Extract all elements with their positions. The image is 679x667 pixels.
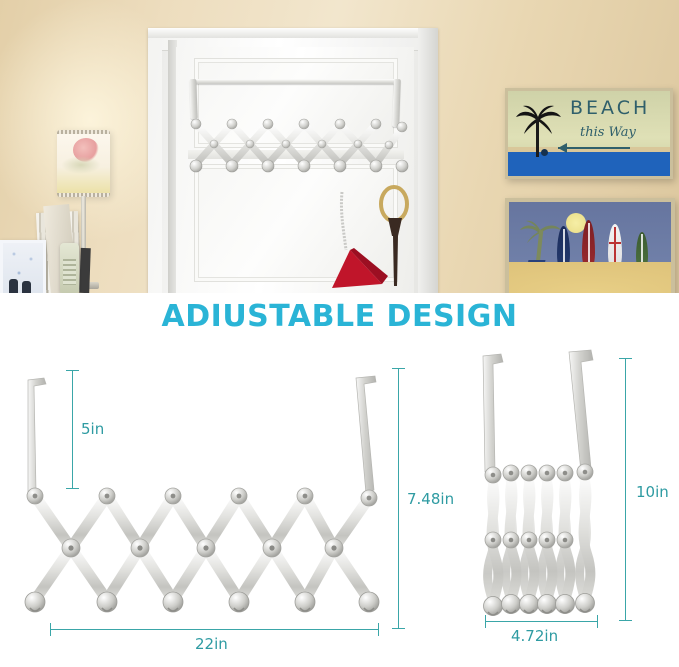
dimension-label-5in: 5in — [78, 420, 107, 438]
wall-art-surfboards — [505, 198, 675, 293]
dimension-cap-bottom-5in — [66, 488, 79, 489]
dimension-cap-top-748in — [392, 368, 405, 369]
rivet-row-middle — [62, 539, 343, 557]
lifestyle-photo: BEACH this Way — [0, 0, 679, 293]
dimension-line-748in — [398, 368, 399, 628]
left-arrow-icon — [558, 147, 630, 149]
dimension-cap-bottom-10in — [619, 620, 632, 621]
lamp-shade — [57, 130, 110, 197]
dimension-cap-right-22in — [378, 623, 379, 636]
dimension-line-472in — [485, 621, 597, 622]
rivet-row-top — [27, 488, 377, 506]
art-sea-band — [508, 152, 670, 176]
dimension-cap-bottom-748in — [392, 628, 405, 629]
rivet-centers-top — [33, 494, 372, 501]
hanger-top-bar — [192, 79, 400, 84]
rivet-centers-middle — [491, 538, 568, 543]
dimension-label-748in: 7.48in — [404, 490, 457, 508]
shade-trim-top — [57, 130, 110, 134]
dimension-cap-top-10in — [619, 358, 632, 359]
hanger-strap-right — [569, 350, 593, 472]
rivet-row-top — [485, 464, 593, 483]
dimension-cap-left-22in — [50, 623, 51, 636]
frame-figure-2 — [22, 281, 31, 293]
art2-sand — [509, 262, 671, 293]
diagram-area: 5in 7.48in 22in — [0, 348, 679, 667]
dimension-label-472in: 4.72in — [508, 627, 561, 645]
cordless-phone — [60, 243, 79, 293]
dark-book — [79, 248, 91, 293]
product-infographic: BEACH this Way ADI — [0, 0, 679, 667]
umbrella-on-ring — [372, 186, 420, 293]
dimension-label-22in: 22in — [192, 635, 231, 653]
hanger-strap-right — [356, 376, 376, 494]
hanger-strap-left — [483, 354, 503, 472]
dimension-label-10in: 10in — [633, 483, 672, 501]
hanger-strap-left — [28, 378, 46, 492]
palm-trunk — [536, 117, 539, 157]
art-text-this-way: this Way — [580, 125, 636, 140]
hook-row — [484, 594, 595, 616]
frame-figure-1 — [9, 279, 18, 293]
collapsed-rack-diagram — [465, 348, 645, 648]
picture-frame — [0, 240, 46, 293]
hook-row — [25, 592, 379, 612]
expanded-rack-diagram — [0, 348, 400, 648]
dimension-cap-top-5in — [66, 370, 79, 371]
dimension-line-10in — [625, 358, 626, 620]
page-title: ADIUSTABLE DESIGN — [0, 299, 679, 334]
coconut-icon — [541, 149, 548, 156]
surfboard-cross — [609, 242, 620, 244]
wall-art-beach-sign: BEACH this Way — [505, 88, 673, 179]
door-frame-right-jamb — [418, 28, 438, 293]
phone-keypad — [63, 259, 76, 285]
art-text-beach: BEACH — [570, 97, 650, 119]
dimension-cap-left-472in — [485, 615, 486, 628]
dimension-line-22in — [50, 629, 378, 630]
dimension-cap-right-472in — [597, 615, 598, 628]
dimension-line-5in — [72, 370, 73, 488]
shade-leaf-motif — [61, 156, 101, 174]
